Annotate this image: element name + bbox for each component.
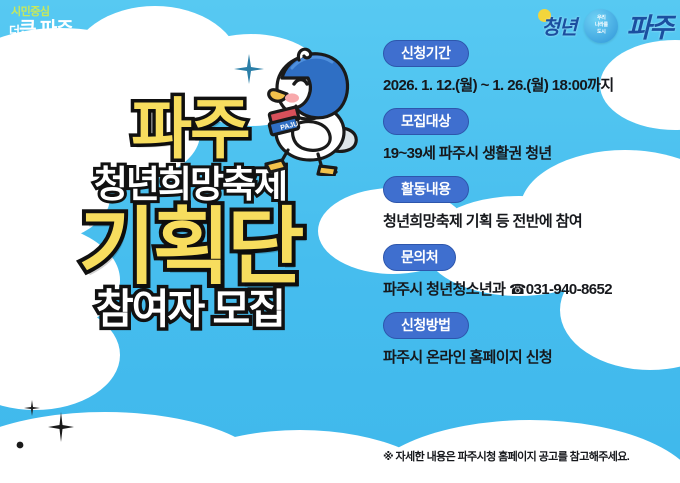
city-slogan-logo: 시민중심 더큰 파주 [9, 7, 73, 39]
sparkle-icon [24, 400, 40, 421]
info-block-activities: 활동내용 청년희망축제 기획 등 전반에 참여 [383, 176, 673, 231]
info-block-target: 모집대상 19~39세 파주시 생활권 청년 [383, 108, 673, 163]
value-contact: 파주시 청년청소년과 ☎031-940-8652 [383, 281, 673, 299]
youth-brand-logo: 청년 [542, 11, 577, 40]
telephone-icon: ☎ [509, 281, 526, 297]
badge-target: 모집대상 [383, 108, 469, 135]
poster-canvas: 시민중심 더큰 파주 청년 우리 나라를 도시 파주 [0, 0, 680, 483]
badge-contact: 문의처 [383, 244, 456, 271]
poster-footnote: ※ 자세한 내용은 파주시청 홈페이지 공고를 참고해주세요. [383, 448, 629, 464]
slogan-prefix: 더 [9, 24, 19, 38]
badge-application-period: 신청기간 [383, 40, 469, 67]
contact-department: 파주시 청년청소년과 [383, 281, 509, 298]
info-block-how-to-apply: 신청방법 파주시 온라인 홈페이지 신청 [383, 312, 673, 367]
youth-brand-label: 청년 [542, 17, 577, 39]
slogan-line-1: 시민중심 [11, 7, 73, 18]
info-block-application-period: 신청기간 2026. 1. 12.(월) ~ 1. 26.(월) 18:00까지 [383, 40, 673, 95]
badge-line-3: 도시 [597, 29, 606, 36]
badge-how-to-apply: 신청방법 [383, 312, 469, 339]
sparkle-icon [48, 412, 74, 447]
value-activities: 청년희망축제 기획 등 전반에 참여 [383, 213, 673, 231]
value-how-to-apply: 파주시 온라인 홈페이지 신청 [383, 349, 673, 367]
dot-icon [16, 436, 24, 454]
partner-logo-group: 청년 우리 나라를 도시 파주 [542, 6, 673, 45]
info-block-contact: 문의처 파주시 청년청소년과 ☎031-940-8652 [383, 244, 673, 299]
paju-city-logo: 파주 [626, 6, 672, 45]
paju-duck-mascot: PAJU [252, 44, 370, 176]
value-target: 19~39세 파주시 생활권 청년 [383, 145, 673, 163]
info-panel: 신청기간 2026. 1. 12.(월) ~ 1. 26.(월) 18:00까지… [383, 40, 673, 380]
slogan-main: 큰 파주 [19, 19, 73, 40]
headline-line-team: 기획단 [0, 205, 380, 289]
badge-line-2: 나라를 [595, 22, 608, 29]
headline-line-recruit: 참여자 모집 [0, 289, 380, 330]
contact-phone-number: 031-940-8652 [526, 281, 612, 298]
badge-activities: 활동내용 [383, 176, 469, 203]
slogan-line-2: 더큰 파주 [9, 20, 73, 39]
city-circle-badge-icon: 우리 나라를 도시 [584, 9, 618, 43]
value-application-period: 2026. 1. 12.(월) ~ 1. 26.(월) 18:00까지 [383, 77, 673, 95]
